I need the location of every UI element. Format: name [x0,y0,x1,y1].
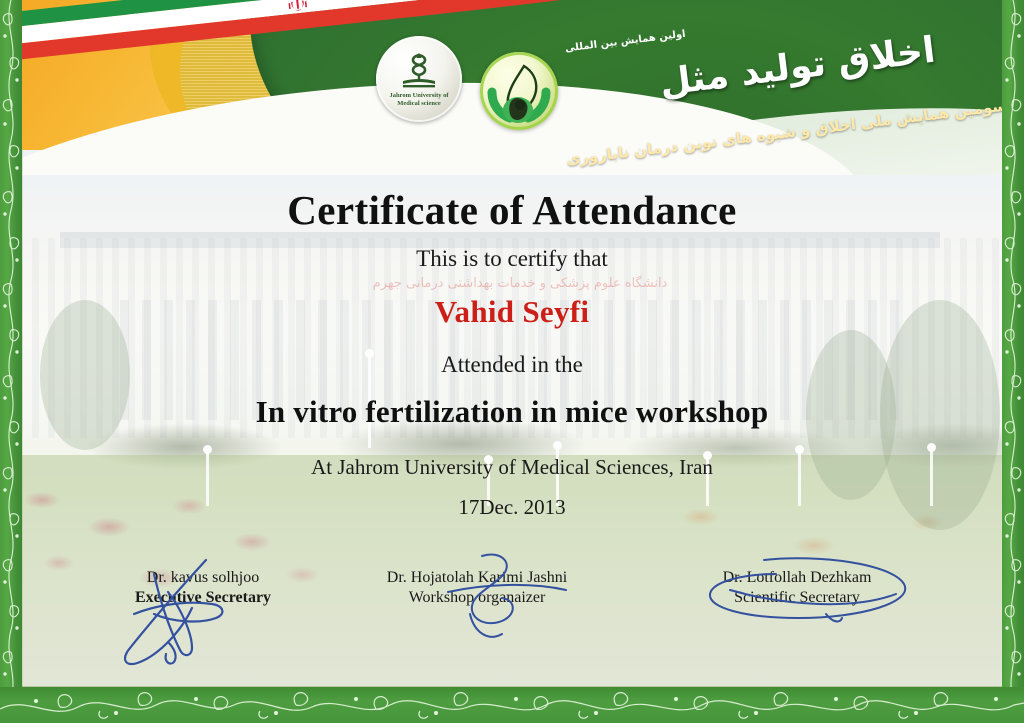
border-vine-bottom [0,687,1024,723]
inner-edge-bottom [22,686,1002,687]
certify-line: This is to certify that [0,246,1024,272]
workshop-title: In vitro fertilization in mice workshop [0,394,1024,430]
university-logo-caption-line2: Medical science [376,100,462,108]
signature-block-scientific-secretary: Dr. Lotfollah Dezhkam Scientific Secreta… [672,568,922,608]
university-logo-caption-line1: Jahrom University of [376,92,462,100]
recipient-name: Vahid Seyfi [0,294,1024,330]
signatory-name: Dr. kavus solhjoo [78,568,328,588]
signatory-name: Dr. Lotfollah Dezhkam [672,568,922,588]
signatory-role: Scientific Secretary [672,588,922,608]
certificate-document: دانشگاه علوم پزشکی و خدمات بهداشتی درمان… [0,0,1024,723]
jahrom-university-logo: Jahrom University of Medical science [376,36,462,122]
place-line: At Jahrom University of Medical Sciences… [0,455,1024,480]
signature-block-workshop-organizer: Dr. Hojatolah Karimi Jashni Workshop org… [352,568,602,608]
leaf-embryo-icon [480,52,558,130]
university-emblem-icon [395,50,443,90]
date-line: 17Dec. 2013 [0,495,1024,520]
border-vine-right [1002,0,1024,723]
signatory-role: Executive Secretary [78,588,328,608]
signature-block-executive-secretary: Dr. kavus solhjoo Executive Secretary [78,568,328,608]
signatory-role: Workshop organaizer [352,588,602,608]
inner-edge-left [22,150,23,687]
iran-emblem-icon [285,0,311,15]
border-right [1002,0,1024,723]
signatory-name: Dr. Hojatolah Karimi Jashni [352,568,602,588]
page-title: Certificate of Attendance [0,186,1024,234]
university-logo-caption: Jahrom University of Medical science [376,92,462,108]
background-building-sign-text: دانشگاه علوم پزشکی و خدمات بهداشتی درمان… [330,276,710,291]
border-vine-left [0,0,22,723]
header-artwork: اخلاق تولید مثل اولین همایش بین المللی س… [0,0,1024,175]
border-left [0,0,22,723]
congress-leaf-embryo-logo [480,52,558,130]
border-bottom [0,687,1024,723]
attended-line: Attended in the [0,352,1024,378]
